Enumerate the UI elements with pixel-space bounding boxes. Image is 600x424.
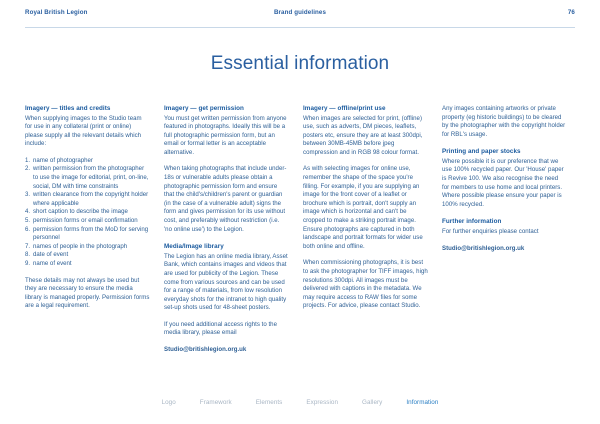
body-paragraph: For further enquiries please contact [442, 228, 567, 237]
section-heading: Imagery — titles and credits [25, 105, 150, 114]
section-heading: Media/Image library [164, 243, 289, 252]
footer-nav-item-expression[interactable]: Expression [306, 399, 338, 406]
list-item: name of photographer [25, 157, 150, 166]
list-item: permission forms from the MoD for servin… [25, 226, 150, 243]
section-heading: Imagery — offline/print use [303, 105, 428, 114]
header-document-title: Brand guidelines [274, 9, 326, 16]
body-paragraph: Any images containing artworks or privat… [442, 105, 567, 139]
footer-nav-item-logo[interactable]: Logo [162, 399, 176, 406]
list-item: date of event [25, 251, 150, 260]
content-block: Media/Image libraryThe Legion has an onl… [164, 243, 289, 354]
body-paragraph: The Legion has an online media library, … [164, 253, 289, 313]
footer-nav-item-elements[interactable]: Elements [256, 399, 283, 406]
content-columns: Imagery — titles and creditsWhen supplyi… [25, 105, 575, 355]
footer-nav-item-gallery[interactable]: Gallery [362, 399, 382, 406]
body-paragraph: When commissioning photographs, it is be… [303, 259, 428, 311]
content-block: Further informationFor further enquiries… [442, 218, 567, 253]
page-number: 76 [568, 9, 575, 16]
footer-nav-item-information[interactable]: Information [406, 399, 438, 406]
list-item: names of people in the photograph [25, 243, 150, 252]
content-block: Imagery — offline/print useWhen images a… [303, 105, 428, 311]
body-paragraph: When taking photographs that include und… [164, 165, 289, 234]
body-paragraph: Where possible it is our preference that… [442, 158, 567, 210]
body-paragraph: These details may not always be used but… [25, 277, 150, 311]
section-heading: Further information [442, 218, 567, 227]
content-column: Any images containing artworks or privat… [442, 105, 567, 355]
contact-email-link[interactable]: Studio@britishlegion.org.uk [164, 346, 289, 355]
list-item: short caption to describe the image [25, 208, 150, 217]
content-block: Any images containing artworks or privat… [442, 105, 567, 139]
body-paragraph: If you need additional access rights to … [164, 321, 289, 338]
requirements-list: name of photographerwritten permission f… [25, 157, 150, 269]
list-item: written clearance from the copyright hol… [25, 191, 150, 208]
contact-email-link[interactable]: Studio@britishlegion.org.uk [442, 245, 567, 254]
section-heading: Printing and paper stocks [442, 148, 567, 157]
list-item: written permission from the photographer… [25, 165, 150, 191]
content-block: Imagery — get permissionYou must get wri… [164, 105, 289, 234]
footer-nav-item-framework[interactable]: Framework [200, 399, 232, 406]
content-column: Imagery — offline/print useWhen images a… [303, 105, 428, 355]
body-paragraph: You must get written permission from any… [164, 115, 289, 158]
list-item: name of event [25, 260, 150, 269]
content-column: Imagery — titles and creditsWhen supplyi… [25, 105, 150, 355]
footer-navigation: LogoFrameworkElementsExpressionGalleryIn… [0, 399, 600, 406]
list-item: permission forms or email confirmation [25, 217, 150, 226]
header-divider [25, 27, 575, 28]
body-paragraph: As with selecting images for online use,… [303, 165, 428, 251]
body-paragraph: When images are selected for print, (off… [303, 115, 428, 158]
section-heading: Imagery — get permission [164, 105, 289, 114]
content-block: Imagery — titles and creditsWhen supplyi… [25, 105, 150, 311]
page-title: Essential information [0, 53, 600, 75]
body-paragraph: When supplying images to the Studio team… [25, 115, 150, 149]
header-brand-name: Royal British Legion [25, 9, 88, 16]
page-header: Royal British Legion Brand guidelines 76 [25, 9, 575, 23]
content-column: Imagery — get permissionYou must get wri… [164, 105, 289, 355]
content-block: Printing and paper stocksWhere possible … [442, 148, 567, 209]
